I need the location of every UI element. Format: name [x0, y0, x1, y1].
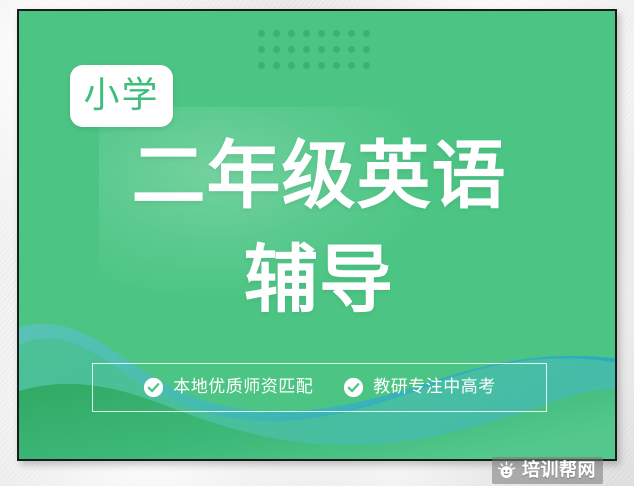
feature-item-1-label: 本地优质师资匹配	[173, 379, 313, 396]
dot-grid-icon	[254, 25, 374, 73]
poster-title-line-2: 辅导	[19, 243, 617, 317]
level-badge-label: 小学	[83, 78, 159, 114]
poster-title-line-1: 二年级英语	[19, 139, 617, 213]
watermark-text: 培训帮网	[522, 462, 596, 480]
watermark: 培训帮网	[492, 457, 603, 484]
course-poster-card: 小学 二年级英语 辅导 本地优质师资匹配 教研专注中高考	[17, 9, 617, 461]
sun-face-icon	[497, 461, 516, 480]
feature-item-2: 教研专注中高考	[343, 377, 496, 398]
feature-list: 本地优质师资匹配 教研专注中高考	[92, 363, 547, 412]
feature-item-1: 本地优质师资匹配	[143, 377, 313, 398]
check-circle-icon	[343, 377, 364, 398]
feature-item-2-label: 教研专注中高考	[373, 379, 496, 396]
level-badge: 小学	[70, 65, 173, 127]
check-circle-icon	[143, 377, 164, 398]
